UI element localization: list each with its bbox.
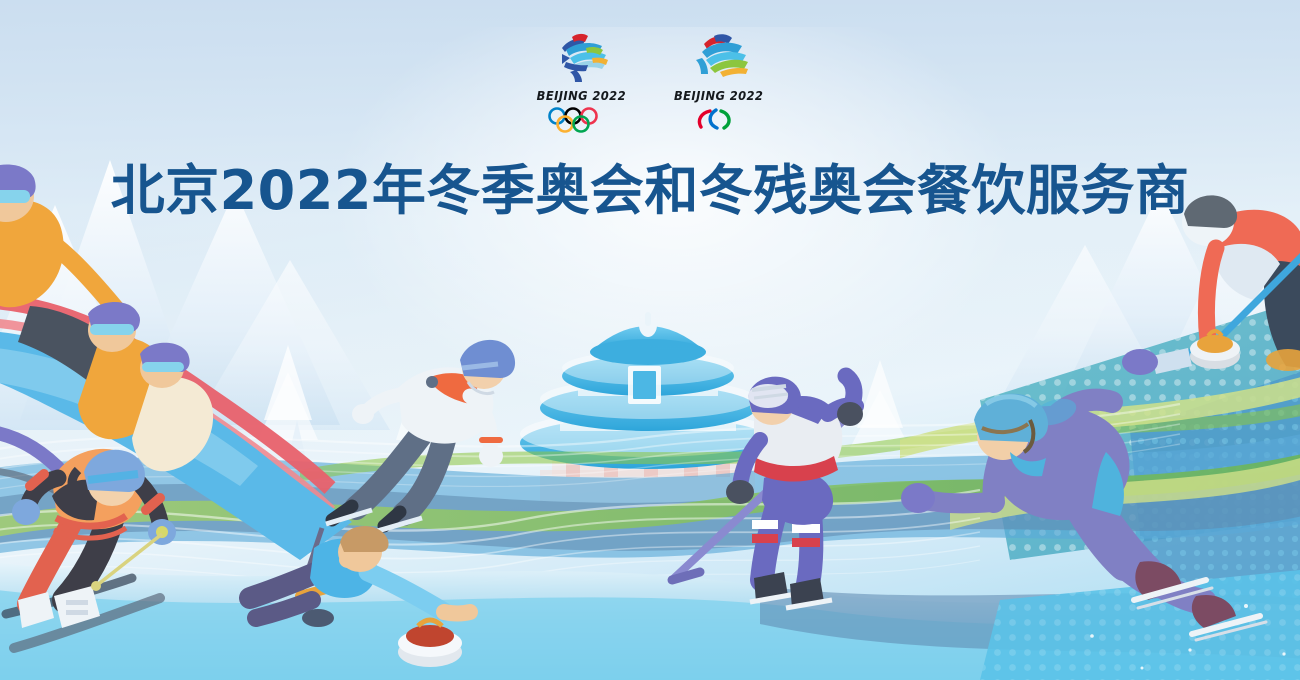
beijing-2022-catering-banner: BEIJING 2022 bbox=[0, 0, 1300, 680]
olympic-rings-icon bbox=[544, 107, 618, 133]
paralympic-logo-block: BEIJING 2022 bbox=[674, 28, 763, 133]
olympic-wordmark: BEIJING 2022 bbox=[537, 89, 626, 104]
olympic-logo-block: BEIJING 2022 bbox=[537, 28, 626, 133]
paralympic-agitos-icon bbox=[690, 107, 748, 133]
emblem-row: BEIJING 2022 bbox=[0, 28, 1300, 133]
beijing-2022-paralympic-emblem-icon bbox=[680, 28, 758, 86]
page-title: 北京2022年冬季奥会和冬残奥会餐饮服务商 bbox=[0, 146, 1300, 225]
beijing-2022-olympic-emblem-icon bbox=[542, 28, 620, 86]
paralympic-wordmark: BEIJING 2022 bbox=[674, 89, 763, 104]
